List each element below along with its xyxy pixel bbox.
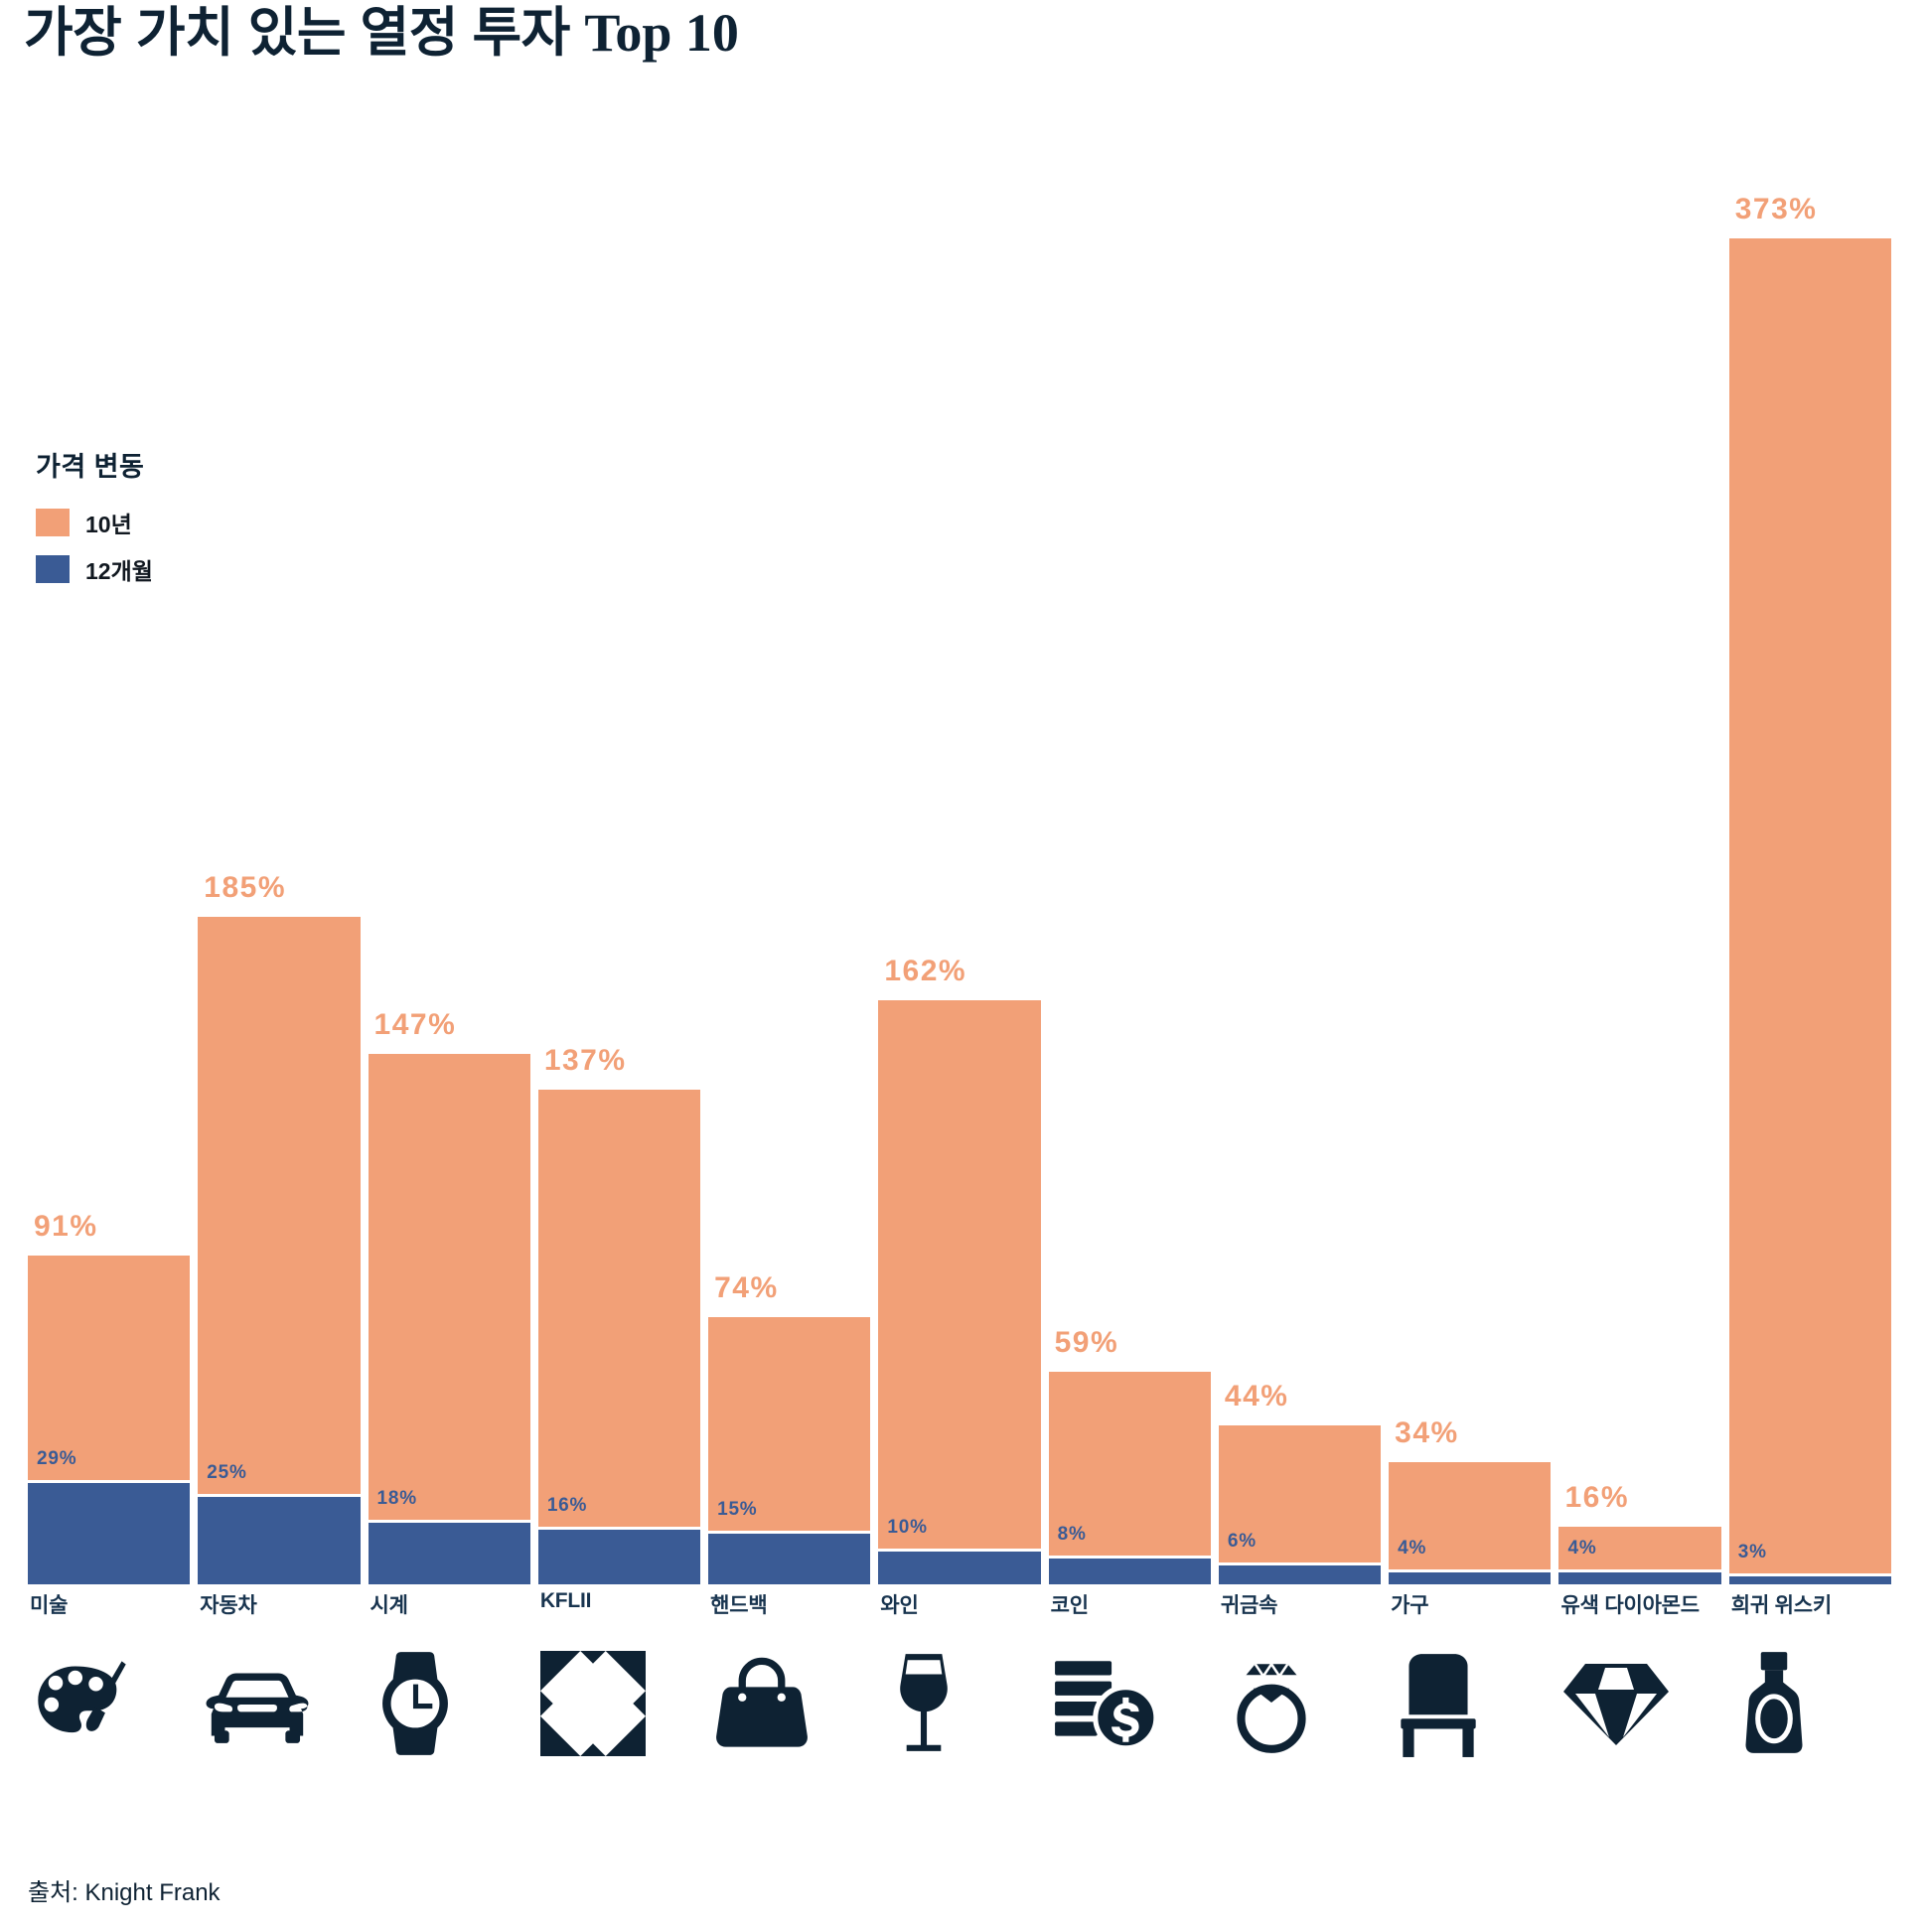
- bar-label-10year: 162%: [884, 955, 966, 988]
- bar-group: 147%18%: [369, 238, 530, 1584]
- bar-label-12month: 10%: [887, 1517, 927, 1539]
- bar-group: 74%15%: [708, 238, 870, 1584]
- bar-10year[interactable]: [878, 1000, 1040, 1584]
- bar-10year[interactable]: [1219, 1425, 1381, 1584]
- category-label: 유색 다이아몬드: [1560, 1589, 1699, 1619]
- bar-label-10year: 16%: [1564, 1481, 1629, 1515]
- bar-label-10year: 185%: [204, 871, 286, 905]
- legend: 가격 변동 10년 12개월: [36, 445, 153, 599]
- category-label: 핸드백: [710, 1589, 767, 1619]
- bar-group: 137%16%: [538, 238, 700, 1584]
- bar-group: 373%3%: [1729, 238, 1891, 1584]
- category-label: 미술: [30, 1589, 68, 1619]
- chart-page: 가장 가치 있는 열정 투자 Top 10 가격 변동 10년 12개월 91%…: [0, 0, 1927, 1932]
- bar-label-12month: 18%: [377, 1488, 417, 1510]
- handbag-icon: [710, 1644, 829, 1763]
- bar-label-12month: 15%: [717, 1499, 757, 1521]
- bar-label-10year: 74%: [714, 1271, 779, 1305]
- bar-12month[interactable]: [1729, 1573, 1891, 1584]
- bar-10year[interactable]: [1729, 238, 1891, 1584]
- bar-10year[interactable]: [1049, 1372, 1211, 1584]
- bar-12month[interactable]: [198, 1494, 360, 1584]
- legend-label-10year: 10년: [85, 506, 132, 539]
- bar-label-10year: 34%: [1395, 1416, 1459, 1450]
- kflii-diamond-pattern-icon: [540, 1644, 660, 1763]
- car-icon: [200, 1644, 319, 1763]
- bar-label-10year: 91%: [34, 1210, 98, 1244]
- bar-10year[interactable]: [1389, 1462, 1551, 1585]
- legend-item-10year[interactable]: 10년: [36, 506, 153, 539]
- bar-label-12month: 29%: [37, 1448, 76, 1470]
- category-label: 가구: [1391, 1589, 1428, 1619]
- category-label: 와인: [880, 1589, 918, 1619]
- category-label: 코인: [1051, 1589, 1089, 1619]
- bar-label-12month: 3%: [1738, 1542, 1767, 1563]
- bar-label-12month: 6%: [1228, 1531, 1257, 1553]
- bar-group: 16%4%: [1558, 238, 1720, 1584]
- legend-item-12month[interactable]: 12개월: [36, 552, 153, 586]
- page-title-korean: 가장 가치 있는 열정 투자: [24, 3, 584, 63]
- bar-12month[interactable]: [878, 1549, 1040, 1584]
- chair-icon: [1391, 1644, 1510, 1763]
- bar-group: 44%6%: [1219, 238, 1381, 1584]
- source-note: 출처: Knight Frank: [28, 1872, 221, 1907]
- bar-label-12month: 4%: [1398, 1538, 1426, 1560]
- bar-group: 34%4%: [1389, 238, 1551, 1584]
- bar-12month[interactable]: [369, 1520, 530, 1584]
- bar-group: 185%25%: [198, 238, 360, 1584]
- bar-chart-plot-area: 91%29%185%25%147%18%137%16%74%15%162%10%…: [28, 238, 1899, 1584]
- category-label: 시계: [371, 1589, 408, 1619]
- bar-12month[interactable]: [28, 1480, 190, 1584]
- bar-label-10year: 137%: [544, 1044, 627, 1078]
- bar-label-10year: 147%: [374, 1008, 457, 1042]
- page-title: 가장 가치 있는 열정 투자 Top 10: [24, 2, 739, 64]
- bar-label-12month: 25%: [207, 1462, 246, 1484]
- bar-label-10year: 373%: [1735, 193, 1818, 226]
- legend-title: 가격 변동: [36, 445, 153, 484]
- page-title-serif: Top 10: [584, 3, 739, 63]
- bar-label-12month: 16%: [547, 1495, 587, 1517]
- legend-swatch-10year: [36, 509, 70, 536]
- category-axis-labels: 미술자동차시계KFLII핸드백와인코인귀금속가구유색 다이아몬드희귀 위스키: [28, 1589, 1899, 1635]
- bar-label-10year: 59%: [1055, 1326, 1119, 1360]
- bar-12month[interactable]: [1049, 1556, 1211, 1584]
- bar-10year[interactable]: [198, 917, 360, 1584]
- category-label: 자동차: [200, 1589, 256, 1619]
- bar-label-12month: 8%: [1058, 1524, 1087, 1546]
- legend-label-12month: 12개월: [85, 552, 153, 586]
- category-label: 희귀 위스키: [1731, 1589, 1832, 1619]
- legend-swatch-12month: [36, 555, 70, 583]
- diamond-ring-icon: [1221, 1644, 1340, 1763]
- category-icon-row: [28, 1644, 1899, 1783]
- watch-icon: [371, 1644, 490, 1763]
- bar-12month[interactable]: [1389, 1569, 1551, 1584]
- coins-dollar-icon: [1051, 1644, 1170, 1763]
- bar-12month[interactable]: [1558, 1569, 1720, 1584]
- category-label: 귀금속: [1221, 1589, 1277, 1619]
- bar-group: 162%10%: [878, 238, 1040, 1584]
- whisky-bottle-icon: [1731, 1644, 1851, 1763]
- bar-label-10year: 44%: [1225, 1380, 1289, 1413]
- wine-glass-icon: [880, 1644, 999, 1763]
- gemstone-icon: [1560, 1644, 1680, 1763]
- bar-group: 91%29%: [28, 238, 190, 1584]
- bar-group: 59%8%: [1049, 238, 1211, 1584]
- bar-12month[interactable]: [1219, 1562, 1381, 1584]
- category-label: KFLII: [540, 1589, 592, 1613]
- bar-12month[interactable]: [538, 1527, 700, 1584]
- bar-label-12month: 4%: [1567, 1538, 1596, 1560]
- bar-12month[interactable]: [708, 1531, 870, 1584]
- palette-icon: [30, 1644, 149, 1763]
